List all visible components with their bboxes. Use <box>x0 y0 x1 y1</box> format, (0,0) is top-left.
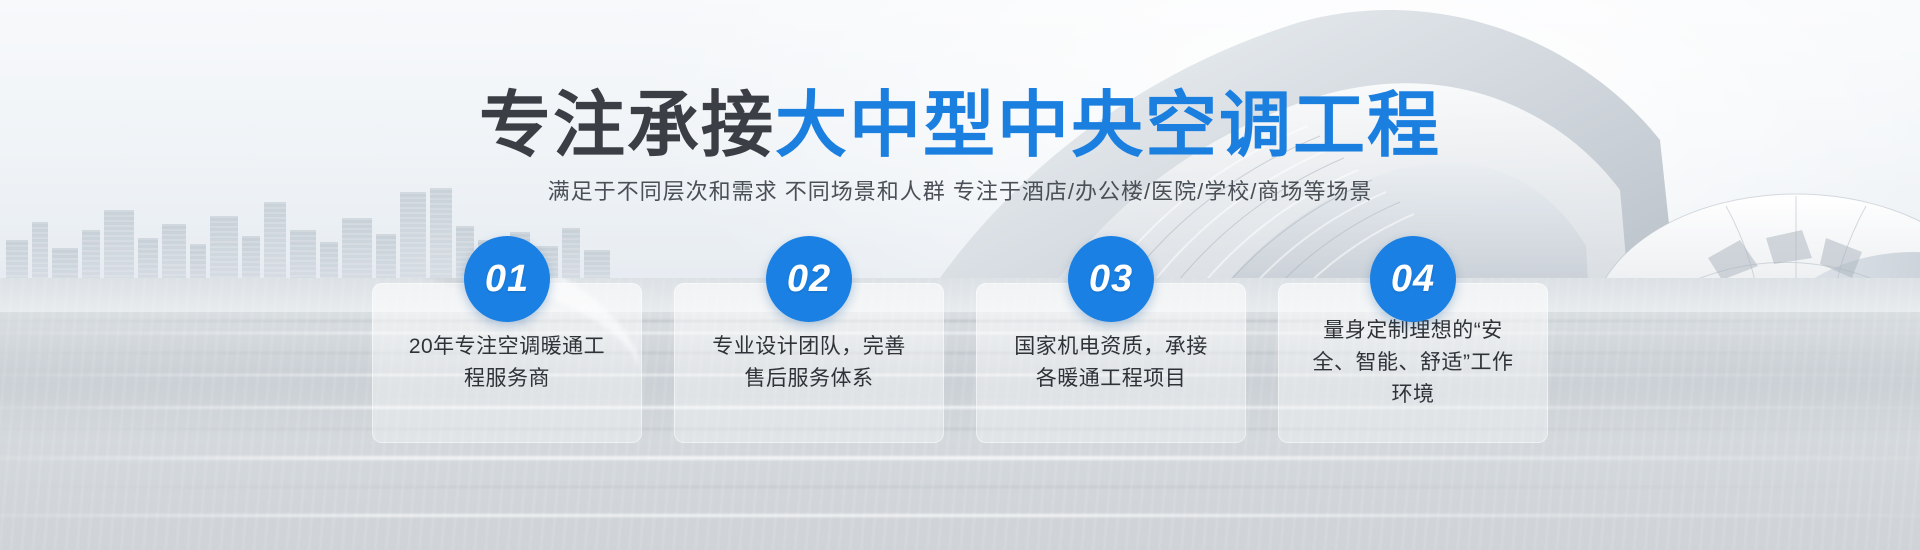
card-number-badge: 04 <box>1370 236 1456 322</box>
feature-card[interactable]: 02 专业设计团队，完善售后服务体系 <box>674 283 944 443</box>
card-number-badge: 01 <box>464 236 550 322</box>
banner-subtitle: 满足于不同层次和需求 不同场景和人群 专注于酒店/办公楼/医院/学校/商场等场景 <box>0 174 1920 206</box>
feature-card-list: 01 20年专注空调暖通工程服务商 02 专业设计团队，完善售后服务体系 03 … <box>0 283 1920 443</box>
card-number: 01 <box>485 260 529 298</box>
feature-card[interactable]: 01 20年专注空调暖通工程服务商 <box>372 283 642 443</box>
card-description: 国家机电资质，承接各暖通工程项目 <box>1007 331 1215 395</box>
card-number-badge: 02 <box>766 236 852 322</box>
feature-card[interactable]: 04 量身定制理想的“安全、智能、舒适”工作环境 <box>1278 283 1548 443</box>
feature-card[interactable]: 03 国家机电资质，承接各暖通工程项目 <box>976 283 1246 443</box>
card-description: 20年专注空调暖通工程服务商 <box>403 331 611 395</box>
banner-headline: 专注承接大中型中央空调工程 <box>0 90 1920 162</box>
card-description: 专业设计团队，完善售后服务体系 <box>705 331 913 395</box>
card-number: 04 <box>1391 260 1435 298</box>
card-number: 02 <box>787 260 831 298</box>
hero-banner: 专注承接大中型中央空调工程 满足于不同层次和需求 不同场景和人群 专注于酒店/办… <box>0 0 1920 550</box>
headline-lead: 专注承接 <box>479 86 775 166</box>
card-number-badge: 03 <box>1068 236 1154 322</box>
headline-accent: 大中型中央空调工程 <box>775 86 1441 166</box>
card-number: 03 <box>1089 260 1133 298</box>
card-description: 量身定制理想的“安全、智能、舒适”工作环境 <box>1309 315 1517 411</box>
